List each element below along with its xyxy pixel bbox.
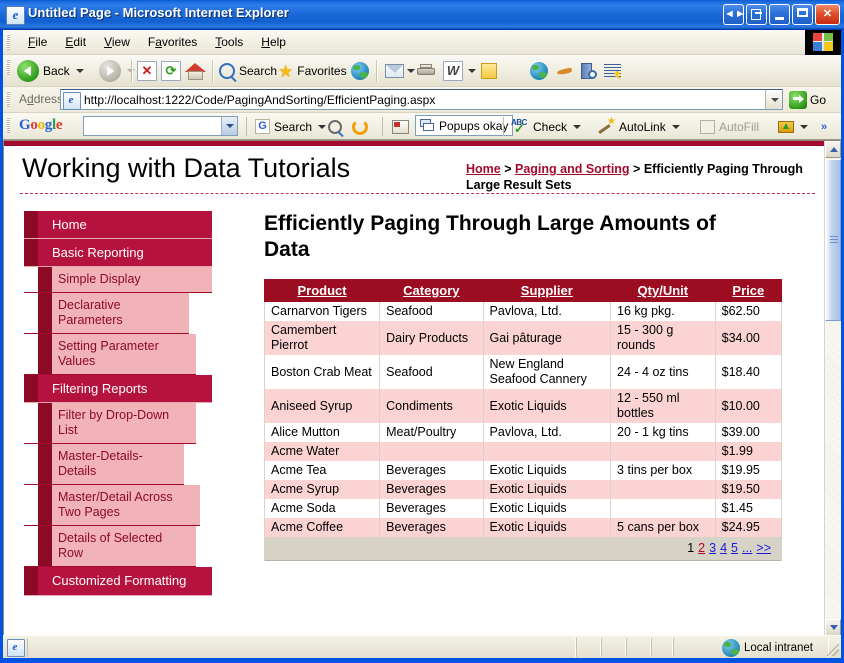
- menu-file[interactable]: File: [19, 30, 56, 55]
- print-button[interactable]: [417, 58, 435, 84]
- scroll-down-button[interactable]: [825, 619, 841, 635]
- menu-help[interactable]: Help: [252, 30, 295, 55]
- cell-product: Aniseed Syrup: [265, 389, 380, 423]
- print-icon: [417, 64, 435, 78]
- sidebar-item-label: Master/Detail Across Two Pages: [58, 490, 173, 519]
- minimize-button[interactable]: [769, 4, 790, 25]
- status-page-icon: e: [7, 639, 25, 657]
- page-title: Efficiently Paging Through Large Amounts…: [264, 211, 734, 263]
- chevron-up-icon: [830, 147, 838, 152]
- sidebar-item-filtering-reports[interactable]: Filtering Reports: [24, 375, 212, 403]
- cell-supplier: Exotic Liquids: [483, 389, 611, 423]
- grid-header-row: Product Category Supplier Qty/Unit Price: [265, 280, 782, 302]
- back-dropdown-caret[interactable]: [76, 69, 84, 73]
- sidebar-item-customized-formatting[interactable]: Customized Formatting: [24, 567, 212, 596]
- favorites-label: Favorites: [297, 64, 346, 78]
- notes-icon: [481, 63, 497, 79]
- address-dropdown-button[interactable]: [765, 90, 782, 109]
- menu-grip-handle[interactable]: [7, 34, 10, 50]
- column-header-label: Price: [732, 283, 764, 298]
- history-button[interactable]: [351, 58, 369, 84]
- address-bar: Address e http://localhost:1222/Code/Pag…: [3, 87, 841, 113]
- address-url-text: http://localhost:1222/Code/PagingAndSort…: [84, 92, 435, 109]
- history-icon: [351, 62, 369, 80]
- popup-blocker-button[interactable]: Popups okay: [415, 115, 513, 136]
- page-top-rule: [4, 141, 825, 146]
- site-search-icon: [328, 120, 342, 134]
- pagerank-icon: [352, 119, 368, 135]
- sidebar-item-label: Filter by Drop-Down List: [58, 408, 169, 437]
- toolbar-separator-3: [376, 60, 378, 82]
- column-header-category[interactable]: Category: [380, 280, 483, 302]
- send-to-icon: [778, 119, 794, 134]
- cell-category: Beverages: [380, 480, 483, 499]
- sidebar-item-master-detail-across-two-pages[interactable]: Master/Detail Across Two Pages: [24, 485, 200, 526]
- column-header-supplier[interactable]: Supplier: [483, 280, 611, 302]
- sidebar-item-label: Simple Display: [58, 272, 141, 286]
- sidebar-item-details-of-selected-row[interactable]: Details of Selected Row: [24, 526, 196, 567]
- forward-button[interactable]: [99, 58, 135, 84]
- address-label: Address: [19, 92, 63, 106]
- sidebar-item-label: Master-Details-Details: [58, 449, 143, 478]
- sidebar-item-filter-by-drop-down-list[interactable]: Filter by Drop-Down List: [24, 403, 196, 444]
- scrollbar-grip-icon: [830, 236, 838, 244]
- sidebar-item-label: Basic Reporting: [52, 245, 144, 260]
- autofill-button: AutoFill: [700, 117, 759, 136]
- grid-pager-row: 12345...>>: [265, 537, 782, 561]
- cell-price: $18.40: [715, 355, 781, 389]
- cell-product: Boston Crab Meat: [265, 355, 380, 389]
- research-button[interactable]: [556, 58, 574, 84]
- refresh-button[interactable]: ⟳: [161, 58, 181, 84]
- edit-word-icon: W: [443, 61, 463, 81]
- web-page-content: Working with Data Tutorials Home > Pagin…: [4, 141, 825, 635]
- page-divider: [20, 193, 815, 194]
- autolink-label: AutoLink: [619, 120, 666, 134]
- forward-icon: [99, 60, 121, 82]
- cell-qty-unit: [611, 480, 716, 499]
- chevron-down-icon: [830, 625, 838, 630]
- spellcheck-caret[interactable]: [573, 125, 581, 129]
- sidebar-item-label: Customized Formatting: [52, 573, 186, 588]
- status-cell-2: [576, 638, 601, 657]
- mail-dropdown-caret[interactable]: [407, 69, 415, 73]
- cell-category: Dairy Products: [380, 321, 483, 355]
- popup-blocker-icon: [420, 119, 435, 132]
- toolbar-separator-2: [212, 60, 214, 82]
- google-separator-1: [246, 117, 247, 136]
- messenger-button[interactable]: [530, 58, 548, 84]
- refresh-icon: ⟳: [161, 61, 181, 81]
- cell-price: $24.95: [715, 518, 781, 537]
- google-separator-2: [382, 117, 383, 136]
- restore-group-button[interactable]: ◄►: [723, 4, 744, 25]
- chevron-double-right-icon: »: [821, 121, 827, 133]
- google-separator-3: [503, 117, 504, 136]
- status-message-cell: [27, 638, 576, 657]
- cell-product: Acme Syrup: [265, 480, 380, 499]
- ie-brand-logo: [805, 30, 841, 55]
- cell-supplier: Exotic Liquids: [483, 499, 611, 518]
- search-label: Search: [239, 64, 277, 78]
- cell-qty-unit: 24 - 4 oz tins: [611, 355, 716, 389]
- spellcheck-icon: ABC✓: [511, 119, 529, 135]
- pager-page-1: 1: [687, 541, 694, 555]
- table-row[interactable]: Alice Mutton Meat/Poultry Pavlova, Ltd. …: [265, 423, 782, 442]
- security-zone[interactable]: Local intranet: [722, 639, 813, 657]
- status-cell-3: [601, 638, 626, 657]
- back-label: Back: [43, 64, 70, 78]
- page-vertical-scrollbar[interactable]: [824, 141, 841, 635]
- mail-button[interactable]: [385, 58, 415, 84]
- cell-price: $19.50: [715, 480, 781, 499]
- column-header-price[interactable]: Price: [715, 280, 781, 302]
- pager-page-5[interactable]: 5: [731, 541, 738, 555]
- scroll-up-button[interactable]: [825, 141, 841, 158]
- google-grip-handle[interactable]: [7, 117, 10, 133]
- cell-price: $1.99: [715, 442, 781, 461]
- autofill-label: AutoFill: [719, 120, 759, 134]
- cell-supplier: Exotic Liquids: [483, 461, 611, 480]
- autofill-icon: [700, 120, 715, 134]
- main-toolbar: Back ✕ ⟳ Search ★: [3, 55, 841, 87]
- column-header-label: Product: [298, 283, 347, 298]
- cell-category: Beverages: [380, 499, 483, 518]
- column-header-label: Supplier: [521, 283, 573, 298]
- cell-price: $1.45: [715, 499, 781, 518]
- sidebar-item-label: Declarative Parameters: [58, 298, 123, 327]
- address-input[interactable]: e http://localhost:1222/Code/PagingAndSo…: [60, 89, 783, 110]
- cell-product: Alice Mutton: [265, 423, 380, 442]
- cell-qty-unit: 3 tins per box: [611, 461, 716, 480]
- restore-group-icon: ◄►: [724, 5, 743, 24]
- home-button[interactable]: [185, 58, 206, 84]
- maximize-icon: [797, 8, 808, 17]
- google-logo[interactable]: Google: [19, 117, 62, 134]
- cell-qty-unit: 20 - 1 kg tins: [611, 423, 716, 442]
- products-grid: Product Category Supplier Qty/Unit Price…: [264, 279, 782, 561]
- google-news-button[interactable]: [392, 117, 409, 136]
- sidebar-item-simple-display[interactable]: Simple Display: [24, 267, 212, 293]
- back-button[interactable]: Back: [17, 58, 84, 84]
- cell-category: Beverages: [380, 461, 483, 480]
- send-to-caret[interactable]: [800, 125, 808, 129]
- cell-category: Beverages: [380, 518, 483, 537]
- cell-qty-unit: [611, 499, 716, 518]
- autolink-button[interactable]: AutoLink: [599, 117, 680, 136]
- spellcheck-label: Check: [533, 120, 567, 134]
- back-icon: [17, 60, 39, 82]
- sidebar-item-label: Home: [52, 217, 87, 232]
- google-overflow-button[interactable]: »: [821, 117, 827, 136]
- pager-page-2[interactable]: 2: [698, 541, 705, 555]
- toolbar-separator: [131, 60, 133, 82]
- ie-browser-window: e Untitled Page - Microsoft Internet Exp…: [0, 0, 844, 663]
- cell-price: $19.95: [715, 461, 781, 480]
- breadcrumb-sep-1: >: [501, 162, 515, 176]
- home-icon: [185, 62, 206, 81]
- autolink-wand-icon: [599, 119, 615, 134]
- cell-supplier: Pavlova, Ltd.: [483, 423, 611, 442]
- cell-product: Carnarvon Tigers: [265, 302, 380, 322]
- google-g-icon: G: [255, 119, 270, 134]
- sidebar-item-label: Filtering Reports: [52, 381, 147, 396]
- restore-down-icon: [751, 9, 761, 20]
- menu-tools[interactable]: Tools: [206, 30, 252, 55]
- news-icon: [392, 120, 409, 134]
- autolink-caret[interactable]: [672, 125, 680, 129]
- address-page-icon: e: [63, 92, 81, 110]
- cell-qty-unit: 5 cans per box: [611, 518, 716, 537]
- messenger-globe-icon: [530, 62, 548, 80]
- table-row[interactable]: Acme Tea Beverages Exotic Liquids 3 tins…: [265, 461, 782, 480]
- pager-page-3[interactable]: 3: [709, 541, 716, 555]
- main-content: Efficiently Paging Through Large Amounts…: [244, 211, 804, 561]
- go-icon: [789, 91, 807, 109]
- column-header-product[interactable]: Product: [265, 280, 380, 302]
- html-source-button[interactable]: [604, 58, 621, 84]
- sidebar-item-home[interactable]: Home: [24, 211, 212, 239]
- google-toolbar: Google G Search: [3, 113, 841, 140]
- research-bird-icon: [556, 64, 574, 78]
- cell-price: $10.00: [715, 389, 781, 423]
- table-row[interactable]: Acme Syrup Beverages Exotic Liquids $19.…: [265, 480, 782, 499]
- mail-icon: [385, 64, 404, 78]
- restore-down-button[interactable]: [746, 4, 767, 25]
- sidebar-nav: Home Basic Reporting Simple Display Decl…: [24, 211, 212, 596]
- column-header-label: Category: [403, 283, 459, 298]
- sidebar-item-label: Details of Selected Row: [58, 531, 162, 560]
- table-row[interactable]: Boston Crab Meat Seafood New England Sea…: [265, 355, 782, 389]
- close-button[interactable]: ✕: [815, 4, 840, 25]
- status-cell-5: [651, 638, 673, 657]
- pager-page-4[interactable]: 4: [720, 541, 727, 555]
- close-icon: ✕: [816, 5, 839, 24]
- window-frame: e Untitled Page - Microsoft Internet Exp…: [0, 0, 844, 663]
- google-search-label: Search: [274, 120, 312, 134]
- sidebar-item-master-details-details[interactable]: Master-Details-Details: [24, 444, 184, 485]
- cell-product: Acme Water: [265, 442, 380, 461]
- maximize-button[interactable]: [792, 4, 813, 25]
- cell-qty-unit: 16 kg pkg.: [611, 302, 716, 322]
- scrollbar-thumb[interactable]: [825, 159, 841, 321]
- notes-button[interactable]: [481, 58, 497, 84]
- cell-product: Acme Tea: [265, 461, 380, 480]
- address-grip-handle[interactable]: [7, 91, 10, 107]
- cell-product: Camembert Pierrot: [265, 321, 380, 355]
- google-search-button[interactable]: G Search: [255, 117, 326, 136]
- table-row[interactable]: Acme Water $1.99: [265, 442, 782, 461]
- status-bar: e Local intranet: [3, 635, 841, 658]
- breadcrumb-section-link[interactable]: Paging and Sorting: [515, 162, 630, 176]
- edit-dropdown-caret[interactable]: [468, 69, 476, 73]
- cell-category: Condiments: [380, 389, 483, 423]
- status-cell-4: [626, 638, 651, 657]
- google-search-dropdown[interactable]: [221, 117, 237, 135]
- cell-product: Acme Soda: [265, 499, 380, 518]
- stop-icon: ✕: [137, 61, 157, 81]
- edit-button[interactable]: W: [443, 58, 476, 84]
- cell-supplier: Gai pâturage: [483, 321, 611, 355]
- cell-supplier: [483, 442, 611, 461]
- cell-category: Seafood: [380, 302, 483, 322]
- cell-supplier: Exotic Liquids: [483, 480, 611, 499]
- breadcrumb: Home > Paging and Sorting > Efficiently …: [466, 161, 811, 193]
- favorites-star-icon: ★: [278, 63, 293, 80]
- search-button[interactable]: Search: [219, 58, 277, 84]
- intranet-globe-icon: [722, 639, 740, 657]
- minimize-icon: [775, 17, 784, 20]
- browser-chrome: File Edit View Favorites Tools Help Back: [3, 30, 841, 658]
- pager-ellipsis[interactable]: ...: [742, 541, 752, 555]
- send-to-button[interactable]: [778, 117, 808, 136]
- toolbar-grip-handle[interactable]: [7, 59, 10, 75]
- google-search-caret[interactable]: [318, 125, 326, 129]
- cell-qty-unit: 12 - 550 ml bottles: [611, 389, 716, 423]
- stop-button[interactable]: ✕: [137, 58, 157, 84]
- pager-next-button[interactable]: >>: [756, 541, 771, 555]
- cell-product: Acme Coffee: [265, 518, 380, 537]
- window-title: Untitled Page - Microsoft Internet Explo…: [28, 5, 289, 20]
- sidebar-item-declarative-parameters[interactable]: Declarative Parameters: [24, 293, 189, 334]
- breadcrumb-home-link[interactable]: Home: [466, 162, 501, 176]
- menu-bar: File Edit View Favorites Tools Help: [3, 30, 841, 55]
- cell-price: $34.00: [715, 321, 781, 355]
- cell-qty-unit: [611, 442, 716, 461]
- cell-category: [380, 442, 483, 461]
- ie-page-icon: e: [6, 6, 25, 25]
- window-resize-grip[interactable]: [827, 644, 839, 656]
- google-site-search-button[interactable]: [328, 117, 342, 136]
- menu-favorites[interactable]: Favorites: [139, 30, 206, 55]
- window-controls: ◄► ✕: [721, 4, 840, 26]
- grid-body: Carnarvon Tigers Seafood Pavlova, Ltd. 1…: [265, 302, 782, 561]
- popup-blocker-label: Popups okay: [439, 119, 508, 133]
- cell-supplier: Exotic Liquids: [483, 518, 611, 537]
- table-row[interactable]: Camembert Pierrot Dairy Products Gai pât…: [265, 321, 782, 355]
- cell-category: Meat/Poultry: [380, 423, 483, 442]
- html-source-icon: [604, 64, 621, 79]
- google-pagerank-button[interactable]: [352, 117, 368, 136]
- cell-price: $62.50: [715, 302, 781, 322]
- cell-supplier: Pavlova, Ltd.: [483, 302, 611, 322]
- menu-edit[interactable]: Edit: [56, 30, 95, 55]
- google-search-input[interactable]: [83, 116, 238, 136]
- spellcheck-button[interactable]: ABC✓ Check: [511, 117, 581, 136]
- site-title: Working with Data Tutorials: [22, 153, 350, 184]
- table-row[interactable]: Acme Soda Beverages Exotic Liquids $1.45: [265, 499, 782, 518]
- encarta-icon: [581, 63, 597, 79]
- menu-view[interactable]: View: [95, 30, 139, 55]
- cell-qty-unit: 15 - 300 g rounds: [611, 321, 716, 355]
- sidebar-item-setting-parameter-values[interactable]: Setting Parameter Values: [24, 334, 196, 375]
- favorites-button[interactable]: ★ Favorites: [278, 58, 347, 84]
- table-row[interactable]: Acme Coffee Beverages Exotic Liquids 5 c…: [265, 518, 782, 537]
- title-bar: e Untitled Page - Microsoft Internet Exp…: [0, 0, 844, 30]
- column-header-qty-unit[interactable]: Qty/Unit: [611, 280, 716, 302]
- security-zone-label: Local intranet: [744, 642, 813, 654]
- column-header-label: Qty/Unit: [638, 283, 689, 298]
- encarta-button[interactable]: [581, 58, 597, 84]
- go-label: Go: [810, 93, 826, 107]
- breadcrumb-sep-2: >: [630, 162, 644, 176]
- search-icon: [219, 63, 235, 79]
- cell-supplier: New England Seafood Cannery: [483, 355, 611, 389]
- table-row[interactable]: Carnarvon Tigers Seafood Pavlova, Ltd. 1…: [265, 302, 782, 322]
- page-viewport: Working with Data Tutorials Home > Pagin…: [3, 140, 841, 635]
- pager-cell: 12345...>>: [265, 537, 782, 561]
- go-button[interactable]: Go: [789, 90, 826, 109]
- cell-price: $39.00: [715, 423, 781, 442]
- sidebar-item-label: Setting Parameter Values: [58, 339, 159, 368]
- sidebar-item-basic-reporting[interactable]: Basic Reporting: [24, 239, 212, 267]
- table-row[interactable]: Aniseed Syrup Condiments Exotic Liquids …: [265, 389, 782, 423]
- cell-category: Seafood: [380, 355, 483, 389]
